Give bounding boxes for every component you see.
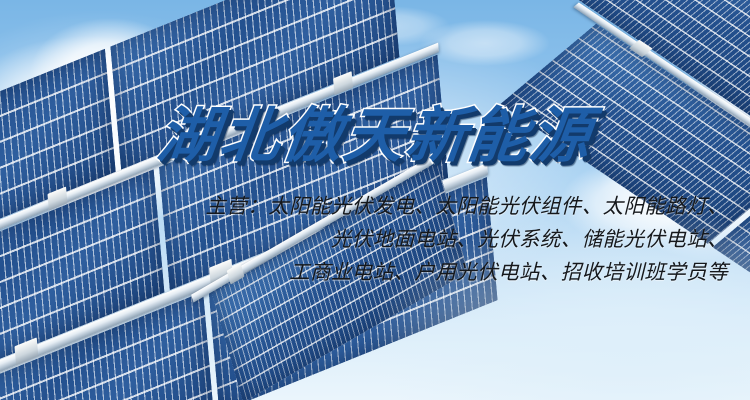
panel-clamp-bl-d bbox=[333, 71, 353, 95]
atmosphere-wash-bottom-right bbox=[370, 210, 750, 400]
panel-bl-3 bbox=[0, 169, 164, 400]
panel-rail-tr-top bbox=[573, 3, 750, 298]
panel-array-top-right bbox=[470, 0, 750, 400]
subtitle-line-1: 主营：太阳能光伏发电、太阳能光伏组件、太阳能路灯、 bbox=[0, 190, 728, 223]
panel-array-bottom-left bbox=[0, 0, 601, 400]
cloud-right-puff bbox=[640, 78, 750, 178]
panel-tr-4 bbox=[713, 167, 750, 387]
panel-bl-5 bbox=[0, 292, 214, 400]
panel-array-bottom-center bbox=[200, 150, 560, 400]
cloud-wisp-upper bbox=[330, 6, 450, 46]
panel-rail-bl-upper bbox=[0, 43, 439, 292]
panel-clamp-bl-c bbox=[200, 125, 220, 149]
cloud-lower-center bbox=[300, 170, 500, 260]
cloud-far-right-edge bbox=[690, 30, 750, 120]
panel-bl-1 bbox=[0, 49, 116, 284]
panel-clamp-bc-a bbox=[227, 263, 245, 285]
panel-tr-3 bbox=[500, 24, 750, 244]
sky-haze-center bbox=[190, 30, 610, 290]
panel-bl-6 bbox=[209, 177, 498, 400]
panel-bl-2 bbox=[110, 0, 399, 170]
cloud-right-large bbox=[600, 110, 750, 260]
solar-company-banner: 湖北傲天新能源 主营：太阳能光伏发电、太阳能光伏组件、太阳能路灯、 光伏地面电站… bbox=[0, 0, 750, 400]
panel-tr-1 bbox=[573, 0, 750, 136]
sky-haze-left bbox=[0, 10, 270, 240]
panel-clamp-bl-e bbox=[14, 337, 38, 365]
panel-bl-4 bbox=[159, 55, 448, 290]
panel-bc-1 bbox=[212, 163, 468, 400]
cloud-wisp-center bbox=[420, 20, 550, 66]
title-block: 湖北傲天新能源 bbox=[0, 104, 750, 168]
subtitle-block: 主营：太阳能光伏发电、太阳能光伏组件、太阳能路灯、 光伏地面电站、光伏系统、储能… bbox=[0, 190, 750, 289]
cloud-mid-left bbox=[0, 120, 200, 230]
subtitle-line-2: 光伏地面电站、光伏系统、储能光伏电站、 bbox=[0, 223, 728, 256]
cloud-top-left-large bbox=[0, 36, 210, 186]
panel-rail-bl-lower bbox=[0, 163, 488, 400]
panel-clamp-bl-b bbox=[47, 186, 67, 210]
cloud-top-left-puff bbox=[30, 18, 190, 128]
cloud-right-low bbox=[560, 158, 720, 248]
panel-clamp-tr-a bbox=[629, 40, 653, 58]
panel-clamp-bl-f bbox=[209, 259, 233, 287]
panel-rail-bc bbox=[191, 155, 436, 303]
cloud-top-center bbox=[120, 44, 320, 164]
page-title: 湖北傲天新能源 bbox=[154, 104, 596, 168]
subtitle-line-3: 工商业电站、户用光伏电站、招收培训班学员等 bbox=[0, 256, 728, 289]
